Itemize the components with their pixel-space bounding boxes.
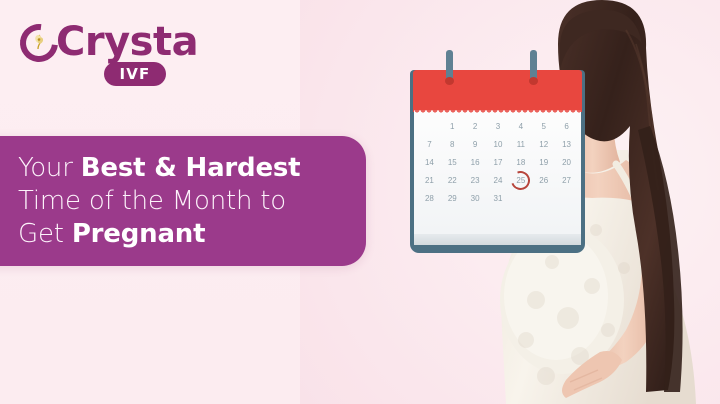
calendar-date-cell: 28 — [418, 192, 441, 205]
calendar-date-cell: 2 — [464, 120, 487, 133]
calendar-date-cell: 15 — [441, 156, 464, 169]
calendar-date-cell: 29 — [441, 192, 464, 205]
calendar-header-band — [413, 70, 582, 112]
poster-canvas: 1234567891011121314151617181920212223242… — [0, 0, 720, 404]
flower-icon — [32, 34, 46, 50]
headline-banner: Your Best & HardestTime of the Month toG… — [0, 136, 366, 266]
calendar-date-cell: 19 — [532, 156, 555, 169]
calendar-date-cell: 12 — [532, 138, 555, 151]
highlight-ring-icon — [508, 167, 533, 192]
headline-text: Your Best & HardestTime of the Month toG… — [18, 152, 350, 251]
calendar-date-cell: 8 — [441, 138, 464, 151]
brand-name: Crysta — [56, 20, 198, 64]
calendar-page-bottom-edge — [414, 234, 581, 245]
calendar-date-cell: 16 — [464, 156, 487, 169]
calendar-date-cell: 31 — [487, 192, 510, 205]
calendar-date-cell: 13 — [555, 138, 578, 151]
calendar-date-cell: 11 — [509, 138, 532, 151]
calendar-cell-empty — [418, 120, 441, 133]
calendar-date-cell: 30 — [464, 192, 487, 205]
calendar-date-cell: 9 — [464, 138, 487, 151]
brand-badge-ivf: IVF — [104, 62, 166, 86]
calendar-date-cell: 18 — [509, 156, 532, 169]
calendar-date-cell: 6 — [555, 120, 578, 133]
calendar-date-cell: 10 — [487, 138, 510, 151]
calendar-date-grid: 1234567891011121314151617181920212223242… — [418, 120, 578, 205]
brand-logo[interactable]: Crysta IVF — [20, 20, 170, 88]
calendar-date-cell: 5 — [532, 120, 555, 133]
calendar-date-cell: 26 — [532, 174, 555, 187]
calendar-date-cell: 25 — [509, 174, 532, 187]
calendar-date-cell: 27 — [555, 174, 578, 187]
calendar-date-cell: 7 — [418, 138, 441, 151]
calendar-binder-pin-icon — [446, 50, 453, 82]
calendar-date-cell: 23 — [464, 174, 487, 187]
calendar-date-cell: 24 — [487, 174, 510, 187]
calendar-date-cell: 3 — [487, 120, 510, 133]
calendar-graphic: 1234567891011121314151617181920212223242… — [410, 58, 585, 253]
calendar-binder-pin-icon — [530, 50, 537, 82]
calendar-date-cell: 22 — [441, 174, 464, 187]
calendar-date-cell: 1 — [441, 120, 464, 133]
calendar-date-cell: 4 — [509, 120, 532, 133]
calendar-date-cell: 21 — [418, 174, 441, 187]
calendar-date-cell: 14 — [418, 156, 441, 169]
calendar-perforation-edge — [414, 110, 581, 115]
calendar-date-cell: 17 — [487, 156, 510, 169]
calendar-date-cell: 20 — [555, 156, 578, 169]
calendar-page: 1234567891011121314151617181920212223242… — [414, 110, 581, 234]
